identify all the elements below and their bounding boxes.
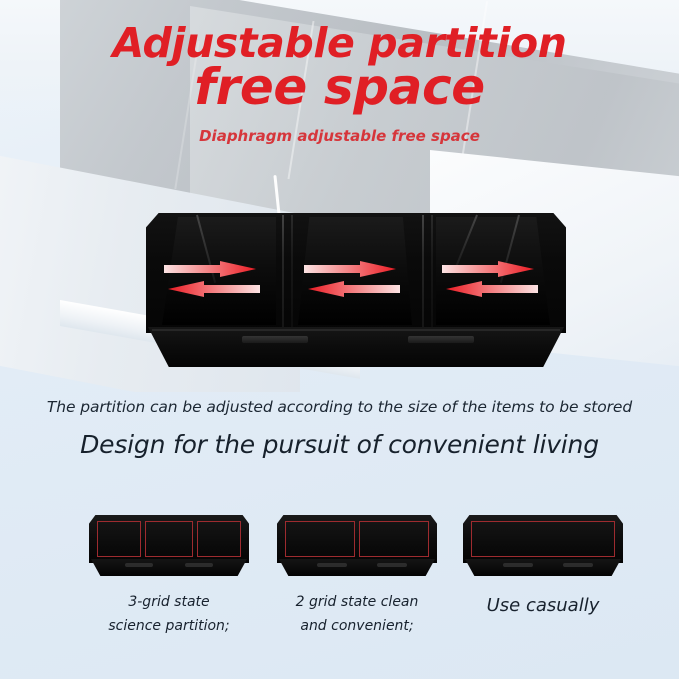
variant-image [463, 515, 623, 577]
variant-caption: 2 grid state clean and convenient; [266, 591, 448, 639]
arrow-pair-compartment-2 [304, 261, 404, 303]
middle-line-1: The partition can be adjusted according … [0, 398, 679, 416]
variant-caption-line-2: science partition; [78, 615, 260, 639]
partition-divider-1 [282, 215, 284, 329]
headline-line-2: free space [0, 61, 679, 113]
variant-cell [97, 521, 141, 557]
partition-divider-2-shadow [431, 215, 433, 329]
organizer-base-edge [152, 329, 560, 331]
variant-cell [197, 521, 241, 557]
partition-divider-2 [422, 215, 424, 329]
variant-caption: Use casually [452, 591, 634, 622]
arrow-pair-compartment-1 [164, 261, 264, 303]
organizer-base [91, 559, 247, 576]
organizer-handle [317, 563, 347, 567]
variant-caption-line-2: and convenient; [266, 615, 448, 639]
middle-line-2: Design for the pursuit of convenient liv… [0, 430, 679, 459]
variant-open-state[interactable]: Use casually [452, 515, 634, 622]
organizer-handle [563, 563, 593, 567]
variant-thumbnails: 3-grid state science partition; 2 grid s… [0, 515, 679, 679]
variant-cell [359, 521, 429, 557]
organizer-handle [185, 563, 213, 567]
subheadline: Diaphragm adjustable free space [0, 127, 679, 145]
arrow-pair-compartment-3 [442, 261, 542, 303]
variant-cell [285, 521, 355, 557]
organizer-handle [242, 336, 308, 343]
variant-image [277, 515, 437, 577]
variant-caption-line-1: Use casually [452, 591, 634, 622]
arrow-left-icon [446, 281, 538, 297]
middle-text-block: The partition can be adjusted according … [0, 398, 679, 459]
variant-cell [145, 521, 193, 557]
arrow-right-icon [304, 261, 396, 277]
arrow-left-icon [308, 281, 400, 297]
hero-product [146, 213, 566, 365]
arrow-right-icon [442, 261, 534, 277]
arrow-right-icon [164, 261, 256, 277]
organizer-base [279, 559, 435, 576]
variant-three-grid[interactable]: 3-grid state science partition; [78, 515, 260, 639]
product-marketing-image: Adjustable partition free space Diaphrag… [0, 0, 679, 679]
partition-divider-1-shadow [291, 215, 293, 329]
variant-caption: 3-grid state science partition; [78, 591, 260, 639]
variant-two-grid[interactable]: 2 grid state clean and convenient; [266, 515, 448, 639]
organizer-base [465, 559, 621, 576]
variant-caption-line-1: 2 grid state clean [266, 591, 448, 615]
variant-cell [471, 521, 615, 557]
arrow-left-icon [168, 281, 260, 297]
headline-block: Adjustable partition free space Diaphrag… [0, 0, 679, 145]
organizer-handle [125, 563, 153, 567]
organizer-handle [503, 563, 533, 567]
organizer-base [148, 327, 564, 367]
organizer-handle [408, 336, 474, 343]
variant-image [89, 515, 249, 577]
variant-caption-line-1: 3-grid state [78, 591, 260, 615]
organizer-handle [377, 563, 407, 567]
